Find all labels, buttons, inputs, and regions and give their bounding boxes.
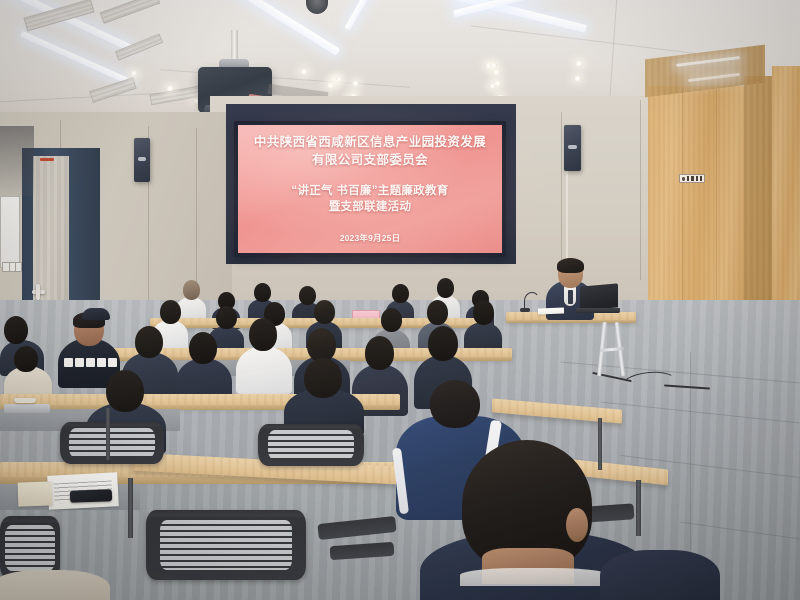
- closed-laptop[interactable]: [4, 404, 50, 416]
- ceiling-downlight: [352, 81, 359, 86]
- attendee-head: [381, 308, 402, 332]
- wood-panel-seam: [716, 88, 717, 326]
- wall-panel-seam: [640, 100, 641, 280]
- attendee-head: [304, 358, 342, 398]
- ceiling-downlight: [489, 84, 496, 88]
- chair[interactable]: [258, 424, 364, 466]
- ceiling-downlight: [493, 70, 500, 75]
- attendee-head: [106, 370, 144, 412]
- wood-panel-seam: [682, 88, 683, 326]
- presenter-laptop[interactable]: [576, 285, 620, 313]
- exit-sign: [679, 174, 705, 183]
- door-closer-arm: [40, 158, 54, 161]
- chair-mesh: [160, 520, 291, 570]
- attendee-torso: [0, 570, 110, 600]
- attendee-head: [307, 328, 336, 362]
- slide-theme-line2: 暨支部联建活动: [291, 199, 448, 216]
- switch-divider: [15, 263, 16, 271]
- desk-leg: [106, 408, 110, 460]
- presenter-papers: [538, 308, 564, 315]
- wall-speaker: [134, 138, 150, 182]
- laptop-base: [576, 308, 620, 313]
- wall-speaker: [564, 125, 581, 171]
- jacket-glyph: [64, 358, 73, 367]
- door-handle[interactable]: [36, 284, 40, 300]
- laptop-screen: [580, 283, 618, 310]
- mic-base: [520, 308, 530, 312]
- ceiling-downlight: [130, 71, 138, 76]
- projection-screen: 中共陕西省西咸新区信息产业园投资发展 有限公司支部委员会 “讲正气 书百廉”主题…: [234, 121, 506, 257]
- switch-divider: [9, 263, 10, 271]
- slide-org-line2: 有限公司支部委员会: [254, 152, 486, 170]
- smartphone[interactable]: [70, 489, 112, 502]
- sign-glyph: [691, 176, 693, 181]
- attendee: [600, 530, 720, 600]
- conference-room-photo: 中共陕西省西咸新区信息产业园投资发展 有限公司支部委员会 “讲正气 书百廉”主题…: [0, 0, 800, 600]
- attendee-head: [437, 278, 454, 298]
- ceiling-downlight: [574, 76, 581, 81]
- jacket-glyph: [97, 358, 106, 367]
- attendee-head: [135, 326, 163, 358]
- whiteboard: [0, 196, 20, 268]
- attendee-cap: [82, 308, 110, 320]
- desk-leg: [128, 478, 133, 538]
- sign-glyph: [700, 176, 702, 181]
- jacket-glyph: [108, 358, 117, 367]
- ceiling-downlight: [166, 86, 174, 91]
- door-reveal-dark: [0, 126, 34, 196]
- attendee: [0, 560, 110, 600]
- ceiling-downlight: [327, 83, 334, 88]
- attendee: [284, 358, 364, 432]
- jacket-glyph: [86, 358, 95, 367]
- presenter-tie: [568, 290, 573, 304]
- desk-notebook[interactable]: [18, 481, 53, 506]
- chair[interactable]: [146, 510, 306, 580]
- attendee-torso: [600, 550, 720, 600]
- attendee-head: [392, 284, 409, 303]
- slide-date: 2023年9月25日: [340, 232, 401, 244]
- slide-org-line1: 中共陕西省西咸新区信息产业园投资发展: [254, 134, 486, 152]
- attendee-head: [160, 300, 181, 324]
- laptop-lid: [4, 404, 50, 413]
- jacket-glyph: [75, 358, 84, 367]
- attendee-head: [427, 300, 448, 325]
- attendee-head: [14, 346, 38, 372]
- sign-glyph: [696, 176, 698, 181]
- attendee-head: [249, 318, 277, 351]
- attendee-head: [254, 283, 271, 302]
- attendee-head: [4, 316, 28, 344]
- carpet-tile-seam: [690, 352, 691, 552]
- attendee-head: [216, 306, 237, 329]
- paper-clip-cluster: [14, 398, 36, 403]
- attendee-head: [183, 280, 200, 300]
- jacket-logo-text: [64, 358, 117, 367]
- attendee-head: [473, 300, 494, 325]
- foreground-ear: [566, 508, 588, 542]
- foreground-collar: [460, 568, 610, 586]
- attendee-head: [365, 336, 394, 370]
- presenter-hair: [557, 258, 584, 273]
- sign-glyph: [687, 176, 689, 181]
- wood-wall-panel: [648, 86, 744, 328]
- attendee-head: [314, 300, 335, 324]
- slide-theme: “讲正气 书百廉”主题廉政教育 暨支部联建活动: [291, 183, 448, 216]
- slide-theme-line1: “讲正气 书百廉”主题廉政教育: [291, 183, 448, 200]
- chair-mesh: [69, 428, 154, 458]
- chair-mesh: [268, 430, 355, 460]
- ceiling-downlight: [575, 61, 583, 66]
- tracksuit-head: [430, 380, 480, 428]
- slide-organization: 中共陕西省西咸新区信息产业园投资发展 有限公司支部委员会: [254, 134, 486, 170]
- attendee-head: [428, 326, 458, 361]
- presentation-slide: 中共陕西省西咸新区信息产业园投资发展 有限公司支部委员会 “讲正气 书百廉”主题…: [238, 125, 502, 253]
- ceiling-downlight: [336, 77, 342, 81]
- attendee-head: [189, 332, 217, 364]
- chair[interactable]: [60, 422, 164, 464]
- ceiling-downlight: [300, 69, 308, 74]
- sign-icon-dot: [682, 177, 685, 181]
- ceiling-downlight: [490, 63, 497, 68]
- light-switch-panel[interactable]: [2, 262, 22, 272]
